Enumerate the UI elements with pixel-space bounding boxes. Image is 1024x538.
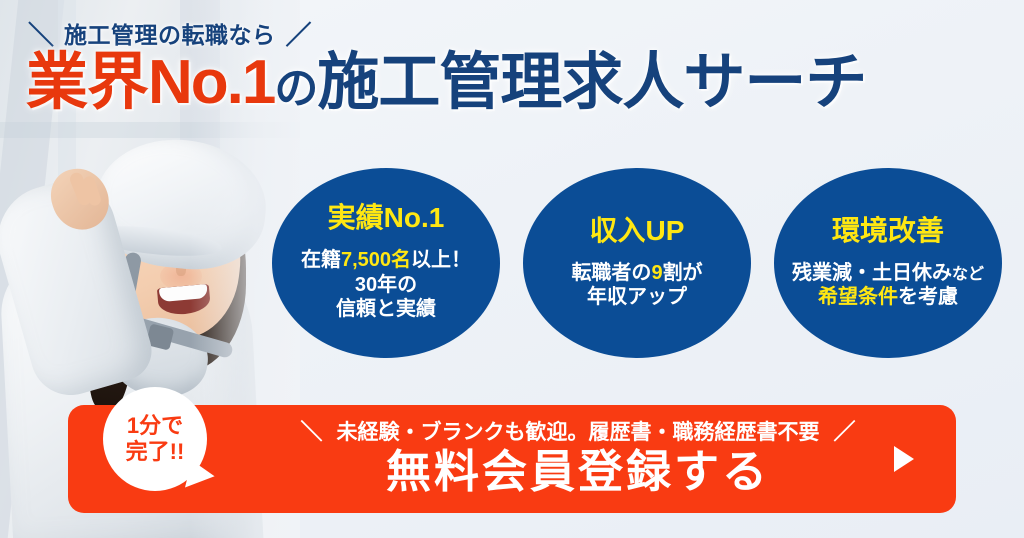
feature-highlight: 7,500 <box>341 249 391 271</box>
feature-circle-environment: 環境改善 残業減・土日休みなど 希望条件を考慮 <box>774 168 1002 358</box>
cta-text-block: ＼ 未経験・ブランクも歓迎。履歴書・職務経歴書不要 ／ 無料会員登録する <box>228 405 928 513</box>
feature-highlight: 名 <box>391 249 411 271</box>
feature-line: 転職者の9割が <box>571 261 702 285</box>
speed-badge-line1: 1分で <box>127 413 183 439</box>
title-particle: の <box>274 64 317 113</box>
feature-text: 残業減・土日休み <box>792 262 952 284</box>
feature-circle-income: 収入UP 転職者の9割が 年収アップ <box>523 168 751 358</box>
slash-right-icon: ／ <box>286 22 312 48</box>
title-rank-badge: No.1 <box>148 48 274 117</box>
cta-register-button[interactable]: 1分で 完了!! ＼ 未経験・ブランクも歓迎。履歴書・職務経歴書不要 ／ 無料会… <box>68 405 956 513</box>
feature-title: 収入UP <box>590 217 685 245</box>
feature-line: 30年の <box>301 273 471 297</box>
feature-text: を考慮 <box>898 286 958 308</box>
feature-line: 希望条件を考慮 <box>792 285 984 309</box>
page-title: 業界No.1の施工管理求人サーチ <box>26 52 866 114</box>
feature-body: 残業減・土日休みなど 希望条件を考慮 <box>792 261 984 310</box>
feature-circle-list: 実績No.1 在籍7,500名以上！ 30年の 信頼と実績 収入UP 転職者の9… <box>272 168 1002 358</box>
feature-line: 在籍7,500名以上！ <box>301 248 471 272</box>
slash-left-icon: ＼ <box>28 22 54 48</box>
feature-highlight: 9 <box>651 262 662 284</box>
feature-text: 割が <box>663 262 703 284</box>
cta-subtitle-label: 未経験・ブランクも歓迎。履歴書・職務経歴書不要 <box>337 422 820 443</box>
feature-line: 年収アップ <box>571 285 702 309</box>
title-red-part: 業界 <box>26 48 148 117</box>
cta-subtitle: ＼ 未経験・ブランクも歓迎。履歴書・職務経歴書不要 ／ <box>300 421 855 443</box>
feature-text: 在籍 <box>301 249 341 271</box>
speech-bubble-tail-icon <box>185 460 217 493</box>
title-navy-part: 施工管理求人サーチ <box>317 48 866 117</box>
feature-text: 転職者の <box>571 262 651 284</box>
slash-right-icon: ／ <box>834 421 856 443</box>
promo-banner: ＼ 施工管理の転職なら ／ 業界No.1の施工管理求人サーチ 実績No.1 在籍… <box>0 0 1024 538</box>
feature-body: 転職者の9割が 年収アップ <box>571 261 702 310</box>
feature-text-small: など <box>952 266 984 283</box>
feature-text: 以上！ <box>411 249 471 271</box>
play-triangle-icon <box>894 446 914 472</box>
feature-circle-achievements: 実績No.1 在籍7,500名以上！ 30年の 信頼と実績 <box>272 168 500 358</box>
kicker-label: 施工管理の転職なら <box>64 24 276 47</box>
slash-left-icon: ＼ <box>300 421 322 443</box>
headline-kicker: ＼ 施工管理の転職なら ／ <box>28 22 312 48</box>
feature-line: 信頼と実績 <box>301 297 471 321</box>
feature-body: 在籍7,500名以上！ 30年の 信頼と実績 <box>301 248 471 321</box>
feature-line: 残業減・土日休みなど <box>792 261 984 285</box>
feature-highlight: 希望条件 <box>818 286 898 308</box>
feature-title: 環境改善 <box>832 217 944 245</box>
speed-badge-line2: 完了!! <box>126 439 185 465</box>
cta-main-label: 無料会員登録する <box>386 447 770 497</box>
feature-title: 実績No.1 <box>328 204 445 232</box>
